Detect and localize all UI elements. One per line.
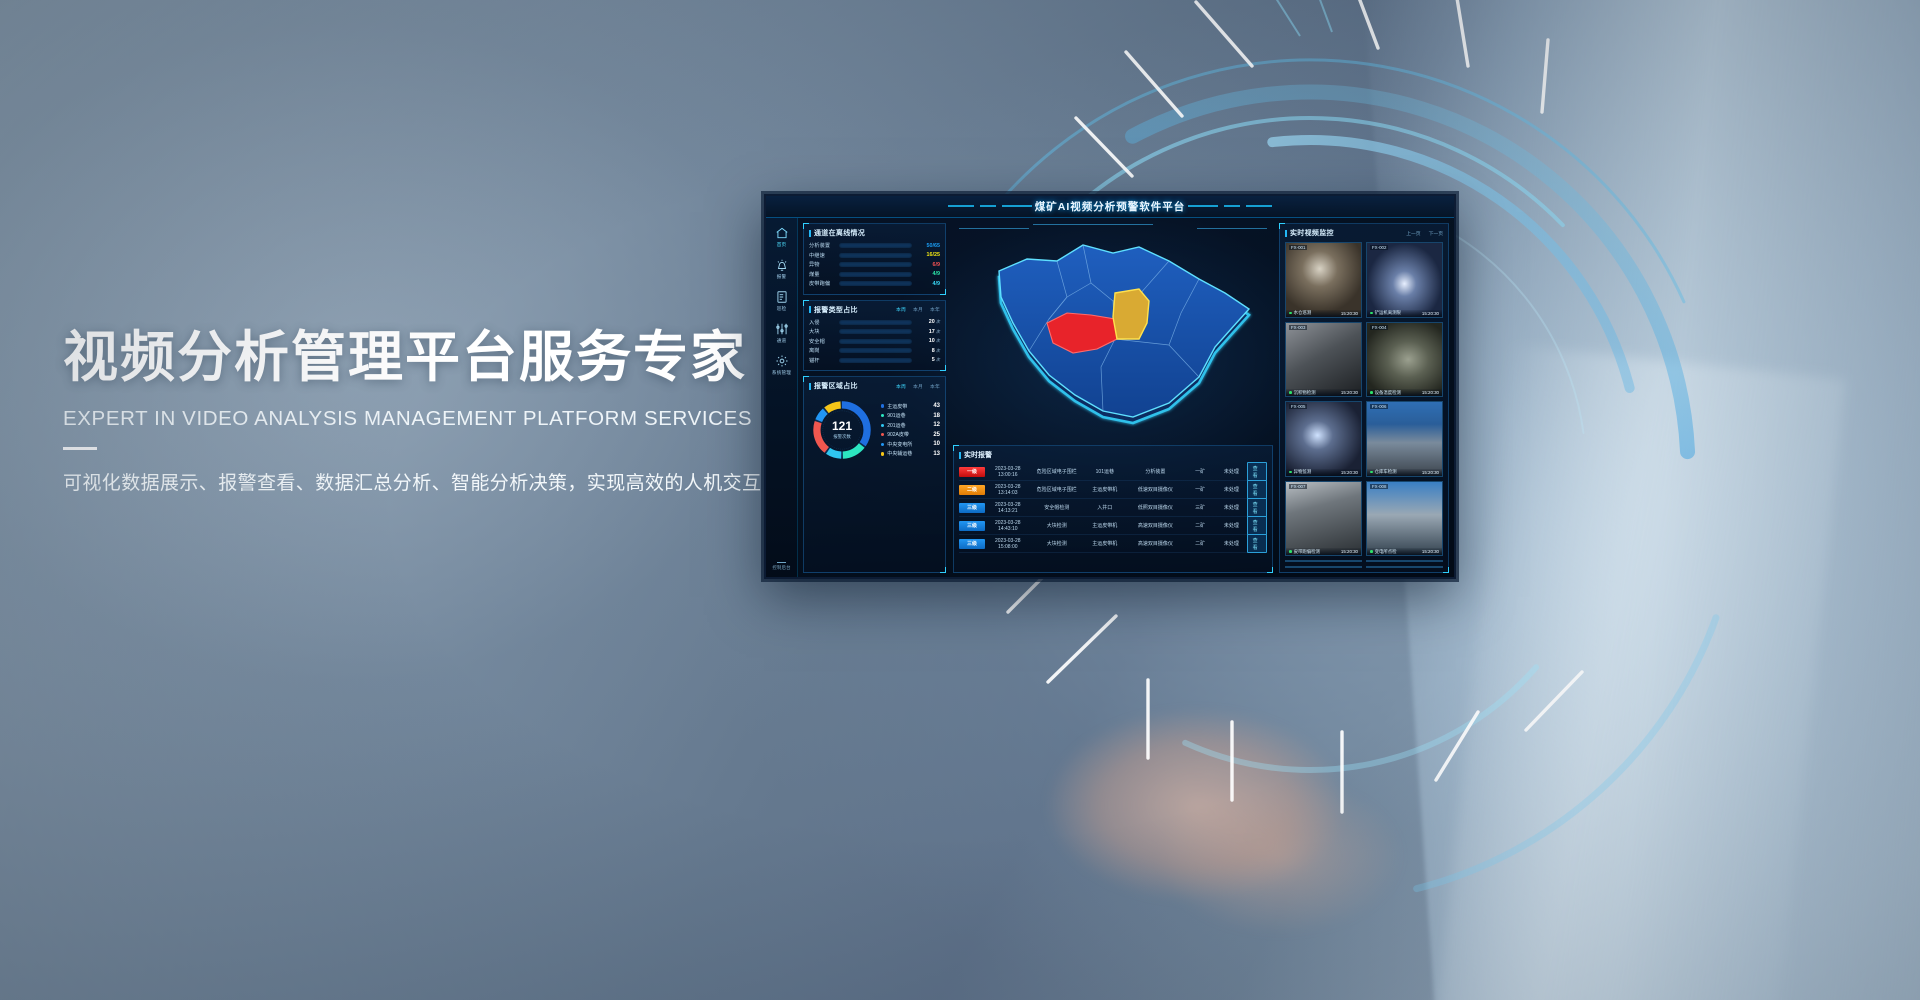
sidebar-footer: 控制后台 [767, 562, 797, 571]
channel-bar-label: 分析装置 [809, 242, 835, 249]
camera-time: 15:20:30 [1422, 390, 1439, 395]
title-tick [1285, 230, 1287, 237]
alarm-type-label: 入侵 [809, 319, 835, 326]
alarm-type: 大块检测 [1031, 540, 1083, 547]
alarm-status: 未处理 [1216, 504, 1246, 511]
camera-id: FX-005 [1289, 404, 1307, 409]
alarm-panel-title-text: 实时报警 [964, 450, 992, 460]
alarm-grade: 二矿 [1184, 522, 1216, 529]
alarm-grade: 一矿 [1184, 468, 1216, 475]
status-dot [1370, 471, 1373, 474]
type-tab-本月[interactable]: 本月 [913, 306, 923, 313]
video-tile[interactable]: FX-001 水仓巡测 15:20:30 [1285, 242, 1362, 318]
camera-id: FX-006 [1370, 404, 1388, 409]
area-tab-本月[interactable]: 本月 [913, 383, 923, 390]
video-tile[interactable]: FX-011 人员违规 15:20:30 [1285, 566, 1362, 568]
channel-bar-label: 中继速 [809, 252, 835, 259]
video-frame [1286, 402, 1361, 476]
video-frame [1367, 402, 1442, 476]
alarm-time: 2023-03-28 14:43:10 [985, 520, 1031, 532]
alarm-grade: 二矿 [1184, 540, 1216, 547]
legend-color-dot [881, 404, 884, 407]
sidebar-footer-label: 控制后台 [767, 565, 797, 571]
table-row[interactable]: 三级 2023-03-28 15:08:00 大块检测 主运皮带机 高速双目摄像… [959, 535, 1267, 553]
page-subtitle: EXPERT IN VIDEO ANALYSIS MANAGEMENT PLAT… [63, 407, 823, 431]
alarm-type-label: 锚杆 [809, 357, 835, 364]
type-panel-title-text: 报警类型占比 [814, 305, 858, 315]
channel-bar-value: 4/9 [916, 271, 940, 277]
camera-name: 地面检测 [1375, 560, 1420, 561]
alarm-time: 2023-03-28 13:14:03 [985, 484, 1031, 496]
alarm-type-value: 10次 [916, 338, 940, 344]
donut-legend: 主运皮带 43 901运巷 18 201运巷 12 902A皮带 25 中央变电… [881, 403, 940, 458]
status-dot [1289, 550, 1292, 553]
video-monitor-panel: 实时视频监控 上一页 下一页 FX-001 水仓巡测 15:20:30 FX-0… [1279, 223, 1449, 573]
alarm-type-track [839, 358, 912, 363]
sidebar-item-system[interactable]: 系统管理 [767, 354, 797, 376]
area-tab-本周[interactable]: 本周 [896, 383, 906, 390]
center-column: 实时报警 一级 2023-03-28 13:00:16 危险区域电子围栏 101… [950, 218, 1276, 577]
alarm-type-row: 离岗 8次 [809, 347, 940, 354]
video-pager: 上一页 下一页 [1406, 230, 1443, 237]
alarm-type-label: 大块 [809, 328, 835, 335]
sidebar: 首页 报警 巡检 通道 [766, 218, 798, 577]
channel-icon [775, 322, 789, 336]
camera-time: 15:20:30 [1422, 549, 1439, 554]
map-deco-line [1033, 224, 1153, 225]
alarm-type-label: 离岗 [809, 347, 835, 354]
video-frame [1286, 482, 1361, 556]
video-tile[interactable]: FX-007 皮带跑偏检测 15:20:30 [1285, 481, 1362, 557]
camera-name: 超温控制 [1375, 566, 1420, 567]
alarm-type-label: 安全帽 [809, 338, 835, 345]
legend-value: 43 [926, 403, 940, 409]
alarm-type: 危险区域电子围栏 [1031, 486, 1083, 493]
legend-label: 901运巷 [887, 412, 923, 419]
legend-item: 902A皮带 25 [881, 431, 940, 438]
alarm-type-track [839, 348, 912, 353]
table-row[interactable]: 三级 2023-03-28 14:13:21 安全帽检测 入井口 低照双目摄像仪… [959, 499, 1267, 517]
camera-name: 人员违规 [1294, 566, 1339, 567]
video-frame [1367, 482, 1442, 556]
legend-color-dot [881, 443, 884, 446]
camera-name: 异物监测 [1294, 469, 1339, 475]
alarm-type-track [839, 339, 912, 344]
alarm-type-row: 入侵 20次 [809, 319, 940, 326]
channel-bar-label: 异物 [809, 261, 835, 268]
camera-time: 15:20:30 [1422, 311, 1439, 316]
alarm-device: 低照双目摄像仪 [1127, 504, 1184, 511]
alarm-status: 未处理 [1216, 468, 1246, 475]
status-dot [1289, 312, 1292, 315]
table-row[interactable]: 一级 2023-03-28 13:00:16 危险区域电子围栏 101运巷 分析… [959, 463, 1267, 481]
type-tab-本周[interactable]: 本周 [896, 306, 906, 313]
video-frame [1286, 323, 1361, 397]
legend-item: 中央辅运巷 13 [881, 450, 940, 457]
legend-color-dot [881, 452, 884, 455]
alarm-area: 主运皮带机 [1083, 522, 1127, 529]
prev-page-button[interactable]: 上一页 [1406, 230, 1420, 237]
camera-id: FX-008 [1370, 484, 1388, 489]
table-row[interactable]: 二级 2023-03-28 13:14:03 危险区域电子围栏 主运皮带机 低速… [959, 481, 1267, 499]
alarm-device: 高速双目摄像仪 [1127, 540, 1184, 547]
video-tile[interactable]: FX-012 超温控制 15:20:30 [1366, 566, 1443, 568]
legend-label: 中央变电所 [887, 441, 923, 448]
channel-bar-label: 皮带跑偏 [809, 280, 835, 287]
header-deco-line [1246, 205, 1272, 207]
status-dot [1370, 391, 1373, 394]
alarm-time: 2023-03-28 15:08:00 [985, 538, 1031, 550]
channel-bar-track [839, 272, 912, 277]
channel-bar-value: 6/9 [916, 262, 940, 268]
camera-id: FX-003 [1289, 325, 1307, 330]
camera-id: FX-002 [1370, 245, 1388, 250]
channel-bar-row: 皮带跑偏 4/9 [809, 280, 940, 287]
legend-color-dot [881, 424, 884, 427]
status-badge: 二级 [959, 485, 985, 495]
header-deco-line [1188, 205, 1218, 207]
panel-title: 实时视频监控 [1285, 228, 1334, 238]
alarm-type-row: 安全帽 10次 [809, 338, 940, 345]
legend-item: 201运巷 12 [881, 422, 940, 429]
area-panel-tabs[interactable]: 本周本月本年 [896, 383, 940, 390]
status-dot [1370, 312, 1373, 315]
legend-item: 中央变电所 10 [881, 441, 940, 448]
region-map[interactable] [953, 222, 1273, 442]
alarm-device: 分析装置 [1127, 468, 1184, 475]
channel-bar-track [839, 281, 912, 286]
channel-bar-row: 异物 6/9 [809, 261, 940, 268]
alarm-time: 2023-03-28 13:00:16 [985, 466, 1031, 478]
camera-time: 15:20:30 [1422, 470, 1439, 475]
channel-bar-track [839, 243, 912, 248]
page-description: 可视化数据展示、报警查看、数据汇总分析、智能分析决策，实现高效的人机交互 [63, 468, 823, 495]
video-tile[interactable]: FX-002 铲运机离测限 15:20:30 [1366, 242, 1443, 318]
camera-id: FX-004 [1370, 325, 1388, 330]
alarm-type-value: 8次 [916, 348, 940, 354]
channel-status-panel: 通道在离线情况 分析装置 50/65 中继速 16/25 异物 6/9 煤量 4… [803, 223, 946, 295]
view-button[interactable]: 查看 [1247, 498, 1267, 517]
channel-bar-list: 分析装置 50/65 中继速 16/25 异物 6/9 煤量 4/9 皮带跑偏 … [809, 242, 940, 287]
area-panel-title-text: 报警区域占比 [814, 381, 858, 391]
type-tab-本年[interactable]: 本年 [930, 306, 940, 313]
alarm-type-panel: 报警类型占比 本周本月本年 入侵 20次 大块 17次 安全帽 10次 离岗 [803, 300, 946, 372]
donut-total-value: 121 [832, 420, 852, 432]
page-title: 视频分析管理平台服务专家 [63, 326, 823, 389]
view-button[interactable]: 查看 [1247, 480, 1267, 499]
camera-name: 皮带跑偏检测 [1294, 549, 1339, 555]
camera-id: FX-007 [1289, 484, 1307, 489]
channel-bar-track [839, 253, 912, 258]
type-panel-tabs[interactable]: 本周本月本年 [896, 306, 940, 313]
divider [63, 447, 97, 450]
channel-bar-row: 煤量 4/9 [809, 271, 940, 278]
inspection-icon [775, 290, 789, 304]
camera-time: 15:20:30 [1341, 311, 1358, 316]
legend-color-dot [881, 414, 884, 417]
video-tile[interactable]: FX-005 异物监测 15:20:30 [1285, 401, 1362, 477]
alarm-area-panel: 报警区域占比 本周本月本年 121 报警次数 [803, 376, 946, 573]
view-button[interactable]: 查看 [1247, 516, 1267, 535]
table-row[interactable]: 三级 2023-03-28 14:43:10 大块检测 主运皮带机 高速双目摄像… [959, 517, 1267, 535]
alarm-device: 低速双目摄像仪 [1127, 486, 1184, 493]
sidebar-item-alarm[interactable]: 报警 [767, 258, 797, 280]
alarm-type-bar-list: 入侵 20次 大块 17次 安全帽 10次 离岗 8次 锚杆 5次 [809, 319, 940, 364]
video-tile[interactable]: FX-008 变电所点检 15:20:30 [1366, 481, 1443, 557]
video-panel-title-text: 实时视频监控 [1290, 228, 1334, 238]
video-tile[interactable]: FX-004 设备温度检测 15:20:30 [1366, 322, 1443, 398]
sidebar-item-label: 首页 [777, 242, 787, 248]
status-dot [1289, 471, 1292, 474]
realtime-alarm-panel: 实时报警 一级 2023-03-28 13:00:16 危险区域电子围栏 101… [953, 445, 1273, 573]
alarm-status: 未处理 [1216, 486, 1246, 493]
alarm-type: 大块检测 [1031, 522, 1083, 529]
camera-name: 水仓巡测 [1294, 310, 1339, 316]
video-frame [1367, 243, 1442, 317]
alarm-type: 危险区域电子围栏 [1031, 468, 1083, 475]
area-tab-本年[interactable]: 本年 [930, 383, 940, 390]
video-tile[interactable]: FX-003 沉积物检测 15:20:30 [1285, 322, 1362, 398]
sidebar-item-label: 报警 [777, 274, 787, 280]
channel-bar-label: 煤量 [809, 271, 835, 278]
channel-bar-row: 分析装置 50/65 [809, 242, 940, 249]
camera-name: 变电所点检 [1375, 549, 1420, 555]
status-dot [1370, 550, 1373, 553]
view-button[interactable]: 查看 [1247, 462, 1267, 481]
legend-value: 10 [926, 441, 940, 447]
dashboard-screen: 煤矿AI视频分析预警软件平台 首页 报警 [764, 194, 1456, 579]
header-deco-line [1224, 205, 1240, 207]
camera-id: FX-001 [1289, 245, 1307, 250]
alarm-grade: 一矿 [1184, 486, 1216, 493]
legend-value: 25 [926, 432, 940, 438]
video-frame [1367, 323, 1442, 397]
alarm-type-value: 17次 [916, 329, 940, 335]
panel-title: 报警区域占比 [809, 381, 858, 391]
sidebar-item-label: 巡检 [777, 306, 787, 312]
channel-panel-title-text: 通道在离线情况 [814, 228, 865, 238]
camera-name: 沉积物检测 [1294, 390, 1339, 396]
alarm-type-value: 5次 [916, 357, 940, 363]
video-grid: FX-001 水仓巡测 15:20:30 FX-002 铲运机离测限 15:20… [1285, 242, 1443, 568]
panel-title: 通道在离线情况 [809, 228, 865, 238]
legend-label: 902A皮带 [887, 431, 923, 438]
legend-color-dot [881, 433, 884, 436]
legend-item: 主运皮带 43 [881, 403, 940, 410]
alarm-area-donut-chart: 121 报警次数 [809, 397, 875, 463]
video-tile[interactable]: FX-009 皮带跑偏检测 15:20:30 [1285, 560, 1362, 562]
alarm-area: 主运皮带机 [1083, 540, 1127, 547]
view-button[interactable]: 查看 [1247, 534, 1267, 553]
legend-label: 201运巷 [887, 422, 923, 429]
video-tile[interactable]: FX-010 地面检测 15:20:30 [1366, 560, 1443, 562]
channel-bar-value: 4/9 [916, 281, 940, 287]
status-badge: 三级 [959, 503, 985, 513]
alarm-type-row: 锚杆 5次 [809, 357, 940, 364]
status-badge: 一级 [959, 467, 985, 477]
alarm-time: 2023-03-28 14:13:21 [985, 502, 1031, 514]
hand [1020, 700, 1440, 1000]
legend-item: 901运巷 18 [881, 412, 940, 419]
map-svg [963, 227, 1263, 437]
legend-value: 12 [926, 422, 940, 428]
next-page-button[interactable]: 下一页 [1429, 230, 1443, 237]
alarm-area: 101运巷 [1083, 468, 1127, 475]
sidebar-item-label: 通道 [777, 338, 787, 344]
status-badge: 三级 [959, 539, 985, 549]
alarm-grade: 三矿 [1184, 504, 1216, 511]
alarm-panel-title: 实时报警 [959, 450, 1267, 460]
camera-time: 15:20:30 [1341, 549, 1358, 554]
title-tick [959, 452, 961, 459]
video-frame [1286, 243, 1361, 317]
alarm-status: 未处理 [1216, 540, 1246, 547]
sidebar-footer-bar [777, 562, 786, 563]
panel-title: 报警类型占比 [809, 305, 858, 315]
status-dot [1289, 391, 1292, 394]
dashboard-header: 煤矿AI视频分析预警软件平台 [766, 196, 1454, 218]
alarm-type: 安全帽检测 [1031, 504, 1083, 511]
channel-bar-row: 中继速 16/25 [809, 252, 940, 259]
camera-name: 仓库车检测 [1375, 469, 1420, 475]
title-tick [809, 306, 811, 313]
channel-bar-value: 50/65 [916, 243, 940, 249]
video-tile[interactable]: FX-006 仓库车检测 15:20:30 [1366, 401, 1443, 477]
alarm-icon [775, 258, 789, 272]
donut-total-caption: 报警次数 [833, 434, 851, 440]
legend-value: 13 [926, 451, 940, 457]
right-column: 实时视频监控 上一页 下一页 FX-001 水仓巡测 15:20:30 FX-0… [1276, 218, 1454, 577]
camera-name: 设备温度检测 [1375, 390, 1420, 396]
alarm-area: 入井口 [1083, 504, 1127, 511]
hero-text-block: 视频分析管理平台服务专家 EXPERT IN VIDEO ANALYSIS MA… [63, 326, 823, 495]
channel-bar-track [839, 262, 912, 267]
sidebar-item-label: 系统管理 [772, 370, 791, 376]
camera-name: 铲运机离测限 [1375, 310, 1420, 316]
legend-label: 中央辅运巷 [887, 450, 923, 457]
title-tick [809, 230, 811, 237]
sidebar-item-inspection[interactable]: 巡检 [767, 290, 797, 312]
home-icon [775, 226, 789, 240]
alarm-table: 一级 2023-03-28 13:00:16 危险区域电子围栏 101运巷 分析… [959, 463, 1267, 553]
camera-time: 15:20:30 [1341, 470, 1358, 475]
alarm-type-row: 大块 17次 [809, 328, 940, 335]
dashboard-title: 煤矿AI视频分析预警软件平台 [766, 199, 1454, 214]
alarm-status: 未处理 [1216, 522, 1246, 529]
sidebar-item-channel[interactable]: 通道 [767, 322, 797, 344]
legend-value: 18 [926, 413, 940, 419]
channel-bar-value: 16/25 [916, 252, 940, 258]
donut-center: 121 报警次数 [809, 397, 875, 463]
camera-name: 皮带跑偏检测 [1294, 560, 1339, 561]
alarm-area: 主运皮带机 [1083, 486, 1127, 493]
camera-time: 15:20:30 [1341, 390, 1358, 395]
legend-label: 主运皮带 [887, 403, 923, 410]
alarm-type-value: 20次 [916, 319, 940, 325]
alarm-type-track [839, 329, 912, 334]
left-column: 通道在离线情况 分析装置 50/65 中继速 16/25 异物 6/9 煤量 4… [798, 218, 950, 577]
alarm-type-track [839, 320, 912, 325]
status-badge: 三级 [959, 521, 985, 531]
gear-icon [775, 354, 789, 368]
alarm-device: 高速双目摄像仪 [1127, 522, 1184, 529]
sidebar-item-home[interactable]: 首页 [767, 226, 797, 248]
title-tick [809, 383, 811, 390]
